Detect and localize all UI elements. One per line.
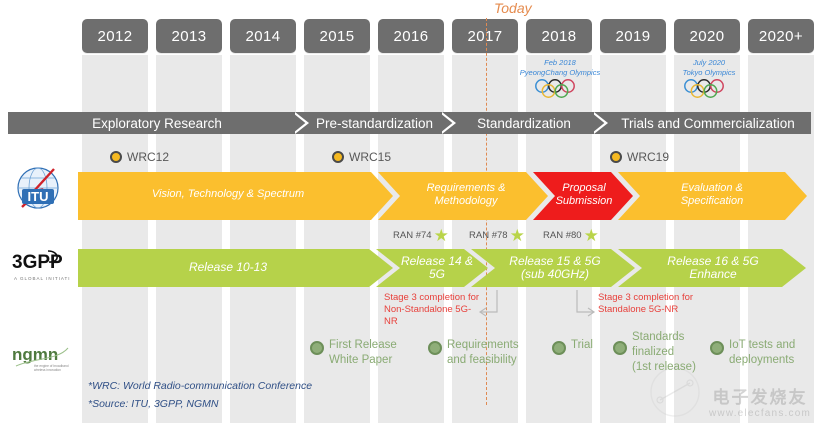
year-chip-2012[interactable]: 2012 xyxy=(82,19,148,53)
ran-label: RAN #78 xyxy=(469,230,508,241)
phase-bar: Exploratory Research Pre-standardization… xyxy=(8,112,811,134)
segment-line-1: Release 15 & 5G xyxy=(509,255,600,269)
gpp-logo-wordmark: 3GPP xyxy=(12,252,63,273)
year-chip-2017[interactable]: 2017 xyxy=(452,19,518,53)
ngmn-dot-icon xyxy=(428,341,442,355)
gpp-segment-label-release14: Release 14 & 5G xyxy=(392,253,482,283)
segment-line-1: Release 16 & 5G xyxy=(667,255,758,269)
ngmn-item-text: Standards finalized (1st release) xyxy=(632,330,696,375)
svg-text:wireless innovation: wireless innovation xyxy=(34,368,61,372)
itu-logo: ITU xyxy=(10,165,66,211)
note-line-2: Non-Standalone 5G-NR xyxy=(384,304,484,328)
ngmn-item-text: IoT tests and deployments xyxy=(729,338,795,368)
year-label: 2020 xyxy=(690,28,725,45)
ngmn-item-first-release-white-paper[interactable]: First Release White Paper xyxy=(310,338,402,368)
today-label: Today xyxy=(494,0,532,16)
ngmn-logo-wordmark: ngmn xyxy=(12,345,58,364)
olympics-name: Tokyo Olympics xyxy=(666,68,752,78)
segment-line-2: Enhance xyxy=(689,268,736,282)
gpp-segment-label-release10-13: Release 10-13 xyxy=(78,253,378,283)
ran-label: RAN #80 xyxy=(543,230,582,241)
svg-text:A GLOBAL INITIATIVE: A GLOBAL INITIATIVE xyxy=(14,276,70,281)
note-line-2: Standalone 5G-NR xyxy=(598,304,708,316)
olympics-date: Feb 2018 xyxy=(508,58,612,68)
year-label: 2018 xyxy=(542,28,577,45)
segment-line-1: Requirements & xyxy=(427,182,506,196)
year-column xyxy=(230,55,296,423)
wrc-marker-wrc12[interactable]: WRC12 xyxy=(110,150,169,164)
star-icon: ★ xyxy=(510,231,525,241)
watermark: 电子发烧友 www.elecfans.com xyxy=(709,383,811,419)
svg-text:ITU: ITU xyxy=(28,189,49,204)
year-label: 2013 xyxy=(172,28,207,45)
segment-line-2: Methodology xyxy=(435,195,498,209)
year-label: 2015 xyxy=(320,28,355,45)
item-line-1: Trial xyxy=(571,339,593,351)
year-chip-2019[interactable]: 2019 xyxy=(600,19,666,53)
stage3-note-non-standalone: Stage 3 completion for Non-Standalone 5G… xyxy=(384,292,484,328)
ngmn-item-text: Trial xyxy=(571,338,593,353)
itu-segment-label-proposal: Proposal Submission xyxy=(544,178,624,212)
ngmn-item-iot-tests-and-deployments[interactable]: IoT tests and deployments xyxy=(710,338,814,368)
year-chip-2015[interactable]: 2015 xyxy=(304,19,370,53)
timeline-infographic: 2012 2013 2014 2015 2016 2017 2018 2019 … xyxy=(0,0,819,423)
item-line-1: First Release xyxy=(329,339,397,351)
segment-line-1: Vision, Technology & Spectrum xyxy=(152,188,304,202)
note-line-1: Stage 3 completion for xyxy=(598,292,708,304)
ran-marker-74[interactable]: RAN #74 ★ xyxy=(393,230,449,241)
ran-marker-78[interactable]: RAN #78 ★ xyxy=(469,230,525,241)
item-line-1: Standards xyxy=(632,331,684,343)
phase-segment-pre-standardization[interactable]: Pre-standardization xyxy=(296,112,443,134)
phase-segment-standardization[interactable]: Standardization xyxy=(443,112,595,134)
segment-line-2: Submission xyxy=(556,195,613,209)
ngmn-dot-icon xyxy=(552,341,566,355)
ngmn-dot-icon xyxy=(710,341,724,355)
watermark-cn: 电子发烧友 xyxy=(709,383,811,408)
segment-line-1: Proposal xyxy=(562,182,605,196)
segment-line-1: Evaluation & xyxy=(681,182,743,196)
segment-line-2: (sub 40GHz) xyxy=(521,268,589,282)
footnote-source: *Source: ITU, 3GPP, NGMN xyxy=(88,396,219,413)
wrc-dot-icon xyxy=(110,151,122,163)
item-line-1: IoT tests and xyxy=(729,339,795,351)
ngmn-logo: ngmn the engine of broadband wireless in… xyxy=(8,340,74,382)
wrc-label: WRC12 xyxy=(127,150,169,164)
year-chip-2014[interactable]: 2014 xyxy=(230,19,296,53)
year-label: 2012 xyxy=(98,28,133,45)
phase-segment-trials-and-commercialization[interactable]: Trials and Commercialization xyxy=(595,112,811,134)
item-line-3: (1st release) xyxy=(632,361,696,373)
wrc-marker-wrc19[interactable]: WRC19 xyxy=(610,150,669,164)
year-chip-2018[interactable]: 2018 xyxy=(526,19,592,53)
item-line-2: and feasibility xyxy=(447,354,517,366)
phase-label: Pre-standardization xyxy=(306,116,433,131)
wrc-label: WRC15 xyxy=(349,150,391,164)
year-chip-2020plus[interactable]: 2020+ xyxy=(748,19,814,53)
wrc-label: WRC19 xyxy=(627,150,669,164)
year-column xyxy=(82,55,148,423)
segment-line-2: Specification xyxy=(681,195,743,209)
gpp-logo: 3GPP A GLOBAL INITIATIVE xyxy=(8,246,70,288)
ngmn-item-standards-finalized[interactable]: Standards finalized (1st release) xyxy=(613,330,701,375)
phase-segment-exploratory-research[interactable]: Exploratory Research xyxy=(8,112,296,134)
item-line-2: deployments xyxy=(729,354,794,366)
olympic-rings-icon xyxy=(680,78,738,98)
year-chip-2016[interactable]: 2016 xyxy=(378,19,444,53)
ran-marker-80[interactable]: RAN #80 ★ xyxy=(543,230,599,241)
star-icon: ★ xyxy=(434,231,449,241)
gpp-segment-label-release15: Release 15 & 5G (sub 40GHz) xyxy=(491,251,619,285)
item-line-1: Requirements xyxy=(447,339,519,351)
item-line-2: finalized xyxy=(632,346,674,358)
ngmn-item-text: Requirements and feasibility xyxy=(447,338,519,368)
olympics-tokyo: July 2020 Tokyo Olympics xyxy=(666,58,752,101)
stage3-note-standalone: Stage 3 completion for Standalone 5G-NR xyxy=(598,292,708,316)
olympics-pyeongchang: Feb 2018 PyeongChang Olympics xyxy=(508,58,612,101)
olympics-date: July 2020 xyxy=(666,58,752,68)
phase-label: Trials and Commercialization xyxy=(611,116,795,131)
olympics-name: PyeongChang Olympics xyxy=(508,68,612,78)
ngmn-item-trial[interactable]: Trial xyxy=(552,338,606,355)
ran-label: RAN #74 xyxy=(393,230,432,241)
year-label: 2014 xyxy=(246,28,281,45)
itu-segment-label-requirements: Requirements & Methodology xyxy=(392,178,540,212)
ngmn-item-text: First Release White Paper xyxy=(329,338,397,368)
year-label: 2016 xyxy=(394,28,429,45)
wrc-dot-icon xyxy=(610,151,622,163)
year-chip-2013[interactable]: 2013 xyxy=(156,19,222,53)
phase-label: Standardization xyxy=(467,116,571,131)
note-line-1: Stage 3 completion for xyxy=(384,292,484,304)
year-column xyxy=(156,55,222,423)
itu-segment-label-vision: Vision, Technology & Spectrum xyxy=(78,178,378,212)
wrc-marker-wrc15[interactable]: WRC15 xyxy=(332,150,391,164)
ngmn-dot-icon xyxy=(310,341,324,355)
itu-segment-label-evaluation: Evaluation & Specification xyxy=(632,178,792,212)
star-icon: ★ xyxy=(584,231,599,241)
segment-line-1: Release 14 & 5G xyxy=(392,255,482,282)
phase-label: Exploratory Research xyxy=(82,116,222,131)
item-line-2: White Paper xyxy=(329,354,392,366)
olympic-rings-icon xyxy=(531,78,589,98)
year-label: 2019 xyxy=(616,28,651,45)
segment-line-1: Release 10-13 xyxy=(189,261,267,275)
wrc-dot-icon xyxy=(332,151,344,163)
year-chip-2020[interactable]: 2020 xyxy=(674,19,740,53)
ngmn-dot-icon xyxy=(613,341,627,355)
year-label: 2020+ xyxy=(759,28,803,45)
gpp-segment-label-release16: Release 16 & 5G Enhance xyxy=(638,251,788,285)
watermark-en: www.elecfans.com xyxy=(709,408,811,419)
ngmn-item-requirements-and-feasibility[interactable]: Requirements and feasibility xyxy=(428,338,528,368)
footnote-wrc: *WRC: World Radio-communication Conferen… xyxy=(88,378,312,395)
year-label: 2017 xyxy=(468,28,503,45)
